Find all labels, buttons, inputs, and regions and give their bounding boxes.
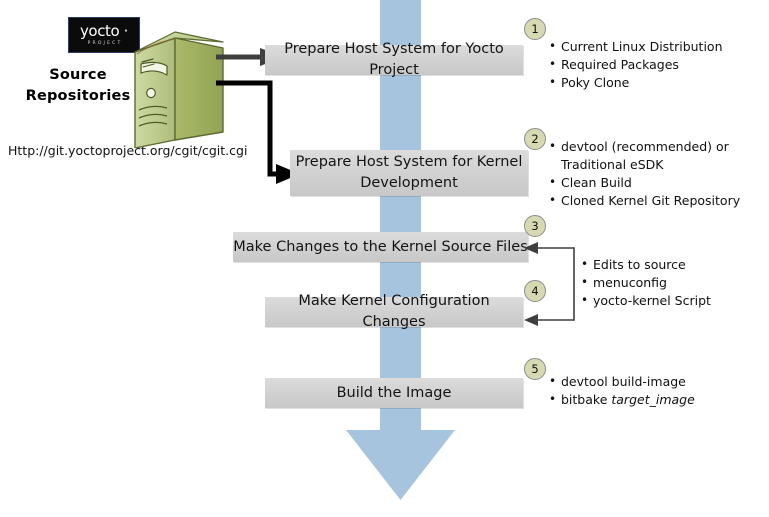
bitbake-command-prefix: bitbake [561,392,611,407]
step-number-3: 3 [524,215,546,237]
list-item: Cloned Kernel Git Repository [548,192,740,210]
list-item: devtool build-image [548,373,695,391]
bullet-list-step3-step4: Edits to source menuconfig yocto-kernel … [580,256,711,310]
step-number-2: 2 [524,128,546,150]
step-number-2-text: 2 [531,132,538,146]
list-item: menuconfig [580,274,711,292]
server-tower-icon [131,30,227,148]
list-item: Required Packages [548,56,723,74]
step-number-4-text: 4 [531,284,538,298]
step-number-1: 1 [524,18,546,40]
process-box-step1-label: Prepare Host System for Yocto Project [265,39,523,81]
list-item: devtool (recommended) or Traditional eSD… [548,138,740,174]
list-item: Edits to source [580,256,711,274]
yocto-logo-subword: PROJECT [69,40,139,47]
step-number-1-text: 1 [531,22,538,36]
process-box-step5[interactable]: Build the Image [265,378,523,408]
process-box-step2[interactable]: Prepare Host System for Kernel Developme… [290,150,528,196]
step-number-5: 5 [524,358,546,380]
list-item: bitbake target_image [548,391,695,409]
bullet-list-step5: devtool build-image bitbake target_image [548,373,695,409]
bullet-list-step2: devtool (recommended) or Traditional eSD… [548,138,740,210]
process-box-step3-label: Make Changes to the Kernel Source Files [233,237,527,258]
list-item: Clean Build [548,174,740,192]
source-repositories-label-line2: Repositories [14,86,142,107]
process-box-step1[interactable]: Prepare Host System for Yocto Project [265,45,523,75]
process-box-step4-label: Make Kernel Configuration Changes [265,291,523,333]
yocto-logo-wordmark: yocto · [69,18,139,40]
step-number-3-text: 3 [531,219,538,233]
process-box-step2-label: Prepare Host System for Kernel Developme… [290,152,528,194]
list-item: Poky Clone [548,74,723,92]
yocto-project-logo: yocto · PROJECT [68,17,140,53]
process-box-step3[interactable]: Make Changes to the Kernel Source Files [233,232,528,262]
source-repositories-label-line1: Source [14,65,142,86]
list-item: Current Linux Distribution [548,38,723,56]
bullet-list-step1: Current Linux Distribution Required Pack… [548,38,723,92]
process-box-step5-label: Build the Image [337,383,452,404]
list-item: yocto-kernel Script [580,292,711,310]
bitbake-target-image-arg: target_image [611,392,694,407]
process-box-step4[interactable]: Make Kernel Configuration Changes [265,297,523,327]
source-repositories-label: Source Repositories [14,65,142,107]
step-number-4: 4 [524,280,546,302]
step-number-5-text: 5 [531,362,538,376]
